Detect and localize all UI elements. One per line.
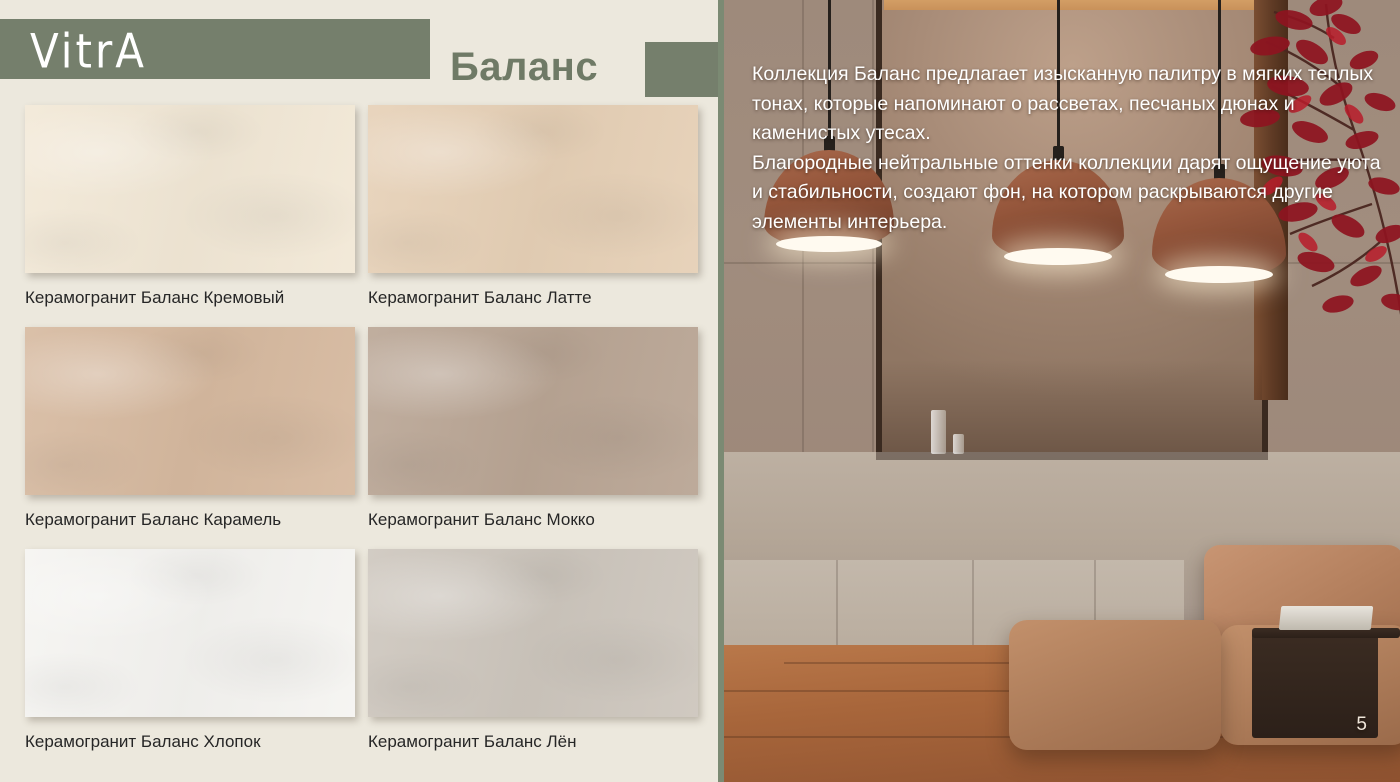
- tile-item[interactable]: Керамогранит Баланс Латте: [368, 105, 698, 273]
- tile-row: Керамогранит Баланс Хлопок Керамогранит …: [0, 549, 718, 771]
- page-number: 5: [1356, 714, 1367, 736]
- collection-description: Коллекция Баланс предлагает изысканную п…: [752, 60, 1382, 237]
- lamp-glow: [1004, 248, 1112, 265]
- glass: [953, 434, 964, 454]
- tile-swatch: [368, 549, 698, 717]
- tile-swatch: [368, 327, 698, 495]
- tile-row: Керамогранит Баланс Кремовый Керамограни…: [0, 105, 718, 327]
- tile-swatch: [25, 327, 355, 495]
- tile-item[interactable]: Керамогранит Баланс Кремовый: [25, 105, 355, 273]
- brand-logo-text: VitrA: [30, 25, 147, 79]
- wall-seam: [972, 560, 974, 648]
- tile-label: Керамогранит Баланс Мокко: [368, 509, 595, 531]
- tile-row: Керамогранит Баланс Карамель Керамограни…: [0, 327, 718, 549]
- collection-title: Баланс: [450, 44, 598, 90]
- tile-item[interactable]: Керамогранит Баланс Хлопок: [25, 549, 355, 717]
- tile-item[interactable]: Керамогранит Баланс Мокко: [368, 327, 698, 495]
- description-paragraph-2: Благородные нейтральные оттенки коллекци…: [752, 149, 1382, 238]
- tile-item[interactable]: Керамогранит Баланс Лён: [368, 549, 698, 717]
- tile-label: Керамогранит Баланс Карамель: [25, 509, 281, 531]
- interior-photo: Коллекция Баланс предлагает изысканную п…: [724, 0, 1400, 782]
- slide-header: VitrA Баланс: [0, 19, 718, 81]
- description-paragraph-1: Коллекция Баланс предлагает изысканную п…: [752, 60, 1382, 149]
- tile-label: Керамогранит Баланс Кремовый: [25, 287, 284, 309]
- tile-swatch: [25, 549, 355, 717]
- tile-label: Керамогранит Баланс Латте: [368, 287, 592, 309]
- slide: VitrA Баланс Керамогранит Баланс Кремовы…: [0, 0, 1400, 782]
- carafe: [931, 410, 946, 454]
- lamp-glow: [776, 236, 882, 252]
- left-panel: VitrA Баланс Керамогранит Баланс Кремовы…: [0, 0, 718, 782]
- wall-seam: [836, 560, 838, 648]
- tile-label: Керамогранит Баланс Лён: [368, 731, 577, 753]
- tile-swatch: [368, 105, 698, 273]
- header-accent-block: [645, 42, 718, 97]
- tile-item[interactable]: Керамогранит Баланс Карамель: [25, 327, 355, 495]
- tile-grid: Керамогранит Баланс Кремовый Керамограни…: [0, 105, 718, 771]
- tile-label: Керамогранит Баланс Хлопок: [25, 731, 261, 753]
- brand-logo-box: VitrA: [0, 19, 430, 79]
- open-book: [1279, 606, 1374, 630]
- tile-swatch: [25, 105, 355, 273]
- interior-photo-scene: Коллекция Баланс предлагает изысканную п…: [724, 0, 1400, 782]
- ottoman: [1009, 620, 1221, 750]
